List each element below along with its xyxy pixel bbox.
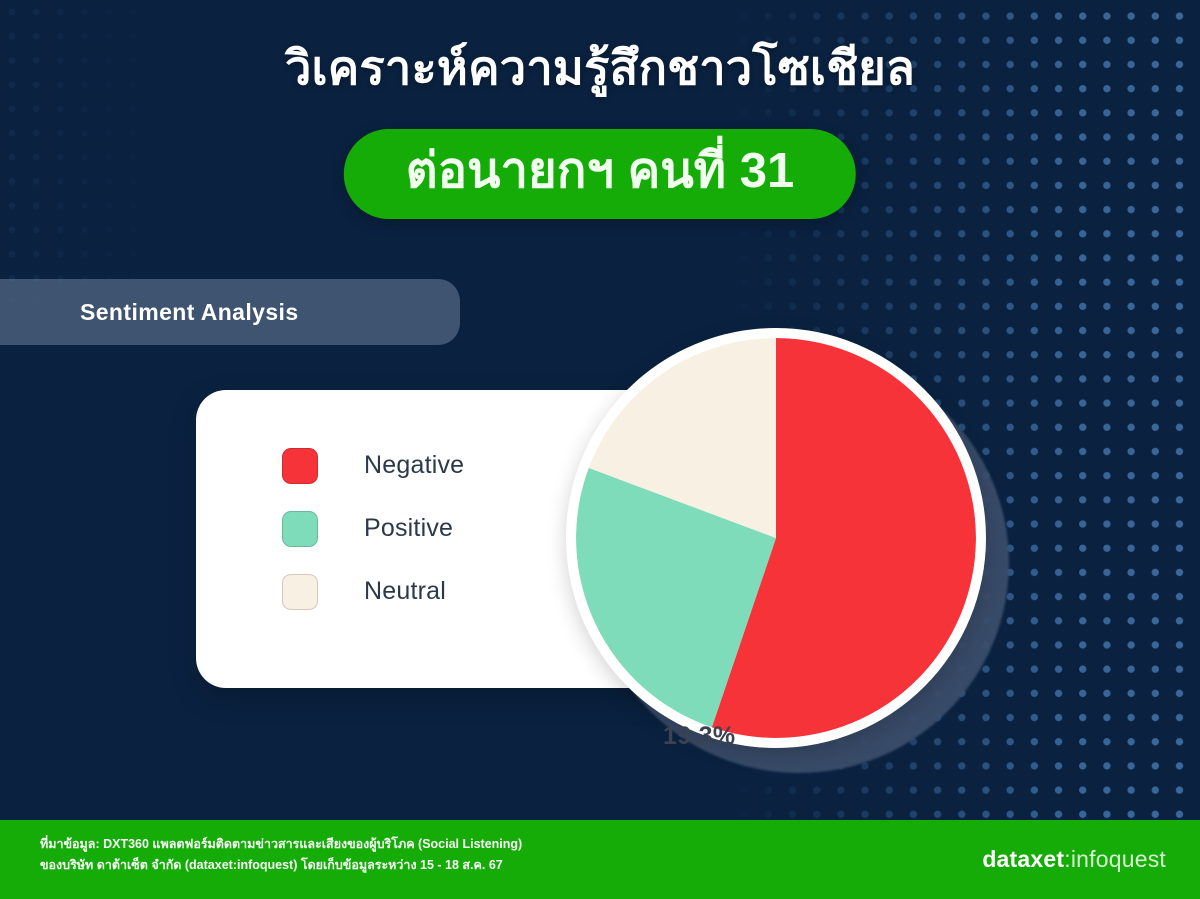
legend-label-negative: Negative xyxy=(364,451,464,480)
legend-swatch-neutral xyxy=(282,574,318,610)
section-tab-sentiment-analysis: Sentiment Analysis xyxy=(0,279,460,345)
brand-logo: dataxet:infoquest xyxy=(982,846,1166,873)
legend-swatch-positive xyxy=(282,511,318,547)
page-title: วิเคราะห์ความรู้สึกชาวโซเชียล xyxy=(0,38,1200,98)
pie-disc xyxy=(576,338,976,738)
pie-label-neutral: 19.3% xyxy=(663,722,735,751)
infographic-canvas: วิเคราะห์ความรู้สึกชาวโซเชียล ต่อนายกฯ ค… xyxy=(0,0,1200,899)
footer-source-text: ที่มาข้อมูล: DXT360 แพลตฟอร์มติดตามข่าวส… xyxy=(40,834,522,876)
legend-label-neutral: Neutral xyxy=(364,577,446,606)
footer-source-line-2: ของบริษัท ดาต้าเซ็ต จำกัด (dataxet:infoq… xyxy=(40,855,522,876)
brand-logo-soft: :infoquest xyxy=(1064,846,1166,872)
legend-item-positive: Positive xyxy=(282,497,464,560)
legend-list: Negative Positive Neutral xyxy=(282,434,464,623)
legend-label-positive: Positive xyxy=(364,514,453,543)
subtitle-pill: ต่อนายกฯ คนที่ 31 xyxy=(344,129,856,219)
footer-source-line-1: ที่มาข้อมูล: DXT360 แพลตฟอร์มติดตามข่าวส… xyxy=(40,834,522,855)
brand-logo-strong: dataxet xyxy=(982,846,1064,872)
pie-chart: 55.2% 25.5% 19.3% xyxy=(536,300,1036,800)
pie-slices-svg xyxy=(576,338,976,738)
footer-bar: ที่มาข้อมูล: DXT360 แพลตฟอร์มติดตามข่าวส… xyxy=(0,820,1200,899)
legend-item-neutral: Neutral xyxy=(282,560,464,623)
section-tab-label: Sentiment Analysis xyxy=(80,299,299,326)
legend-swatch-negative xyxy=(282,448,318,484)
legend-item-negative: Negative xyxy=(282,434,464,497)
